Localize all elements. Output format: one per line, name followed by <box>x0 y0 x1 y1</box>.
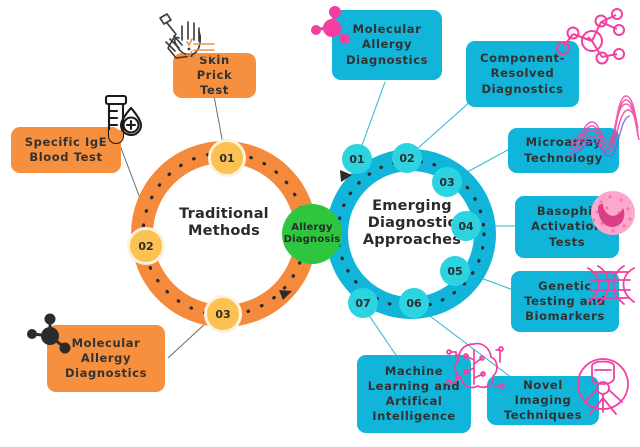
step-bubble-traditional-03[interactable]: 03 <box>204 295 242 333</box>
card-basophil-activation-tests[interactable]: Basophil Activation Tests <box>515 196 619 258</box>
step-bubble-emerging-01-label: 01 <box>349 153 364 166</box>
infographic-canvas: Traditional Methods Emerging Diagnostic … <box>0 0 640 447</box>
card-specific-ige-blood-test-label: Specific IgE Blood Test <box>19 135 113 165</box>
card-basophil-activation-tests-label: Basophil Activation Tests <box>523 204 611 250</box>
card-molecular-allergy-diagnostics-traditional-label: Molecular Allergy Diagnostics <box>55 336 157 382</box>
step-bubble-emerging-02-label: 02 <box>399 152 414 165</box>
card-genetic-testing-and-biomarkers-label: Genetic Testing and Biomarkers <box>519 279 611 325</box>
center-node-allergy-diagnosis[interactable]: Allergy Diagnosis <box>282 204 342 264</box>
step-bubble-traditional-02-label: 02 <box>138 240 153 253</box>
card-microarray-technology[interactable]: Microarray Technology <box>508 128 619 173</box>
step-bubble-emerging-07-label: 07 <box>355 297 370 310</box>
card-microarray-technology-label: Microarray Technology <box>516 135 611 165</box>
card-molecular-allergy-diagnostics-emerging[interactable]: Molecular Allergy Diagnostics <box>332 10 442 80</box>
card-skin-prick-test-label: Skin Prick Test <box>181 53 248 99</box>
connector-right-07 <box>366 311 398 358</box>
card-genetic-testing-and-biomarkers[interactable]: Genetic Testing and Biomarkers <box>511 271 619 332</box>
traditional-ring-arrow <box>279 290 292 300</box>
card-component-resolved-diagnostics-label: Component-Resolved Diagnostics <box>474 51 571 97</box>
card-novel-imaging-techniques[interactable]: Novel Imaging Techniques <box>487 376 599 425</box>
card-machine-learning-and-artifical-intelligence[interactable]: Machine Learning and Artifical Intellige… <box>357 355 471 433</box>
traditional-hub-line1: Traditional <box>168 206 280 223</box>
step-bubble-emerging-04[interactable]: 04 <box>451 211 481 241</box>
step-bubble-emerging-01[interactable]: 01 <box>342 144 372 174</box>
step-bubble-emerging-05[interactable]: 05 <box>440 256 470 286</box>
card-molecular-allergy-diagnostics-traditional[interactable]: Molecular Allergy Diagnostics <box>47 325 165 392</box>
traditional-hub-line2: Methods <box>168 223 280 240</box>
card-novel-imaging-techniques-label: Novel Imaging Techniques <box>495 378 591 424</box>
card-molecular-allergy-diagnostics-emerging-label: Molecular Allergy Diagnostics <box>340 22 434 68</box>
center-node-line2: Diagnosis <box>284 234 341 246</box>
step-bubble-emerging-02[interactable]: 02 <box>392 143 422 173</box>
step-bubble-emerging-06-label: 06 <box>406 297 421 310</box>
step-bubble-emerging-03-label: 03 <box>439 176 454 189</box>
step-bubble-traditional-03-label: 03 <box>215 308 230 321</box>
connector-right-05 <box>462 271 516 291</box>
step-bubble-emerging-07[interactable]: 07 <box>348 288 378 318</box>
card-machine-learning-and-artifical-intelligence-label: Machine Learning and Artifical Intellige… <box>365 364 463 425</box>
card-specific-ige-blood-test[interactable]: Specific IgE Blood Test <box>11 127 121 173</box>
step-bubble-traditional-02[interactable]: 02 <box>127 227 165 265</box>
traditional-hub-label: Traditional Methods <box>168 206 280 240</box>
step-bubble-traditional-01[interactable]: 01 <box>208 139 246 177</box>
step-bubble-emerging-03[interactable]: 03 <box>432 167 462 197</box>
emerging-hub-line1: Emerging <box>352 198 472 215</box>
step-bubble-traditional-01-label: 01 <box>219 152 234 165</box>
card-skin-prick-test[interactable]: Skin Prick Test <box>173 53 256 98</box>
step-bubble-emerging-05-label: 05 <box>447 265 462 278</box>
step-bubble-emerging-04-label: 04 <box>458 220 473 233</box>
center-node-line1: Allergy <box>284 222 341 234</box>
step-bubble-emerging-06[interactable]: 06 <box>399 288 429 318</box>
card-component-resolved-diagnostics[interactable]: Component-Resolved Diagnostics <box>466 41 579 107</box>
